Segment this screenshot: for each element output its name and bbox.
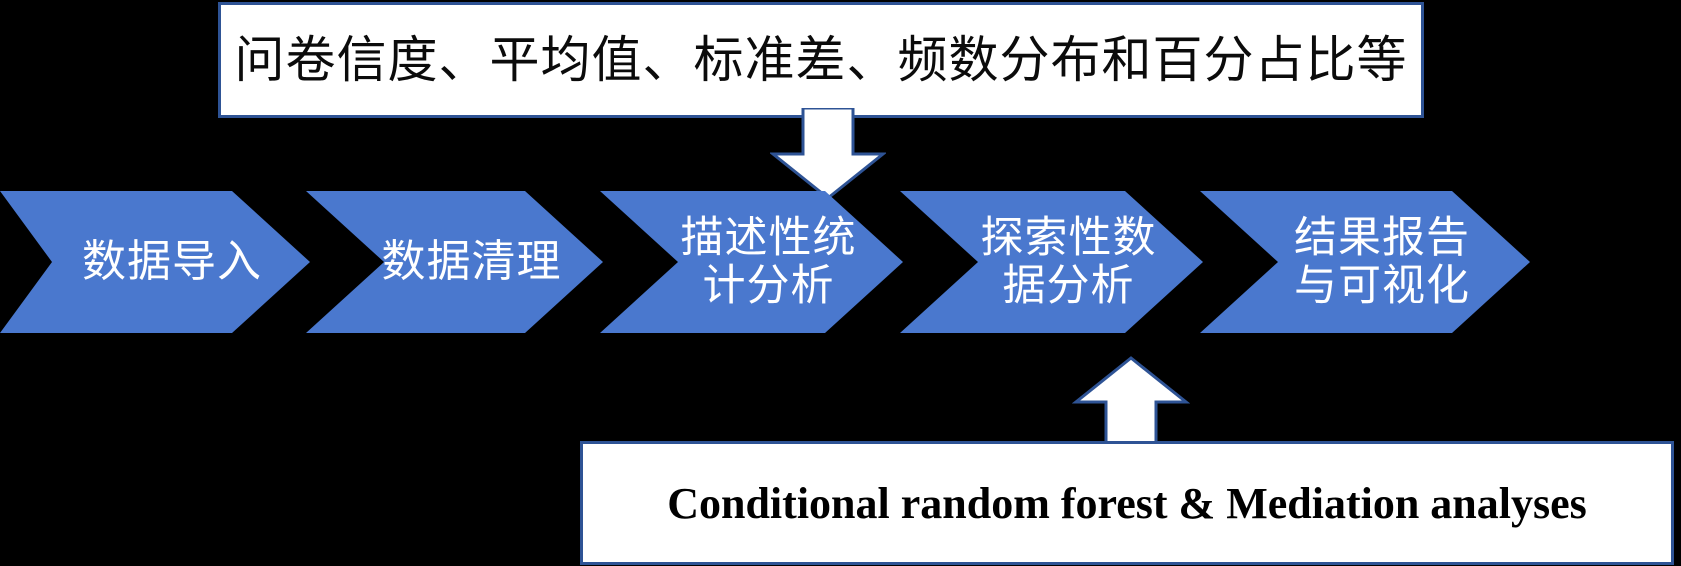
up-arrow-icon [1072,356,1190,448]
chevron-step-5[interactable]: 结果报告 与可视化 [1200,191,1530,333]
process-chevron-band: 数据导入 数据清理 描述性统 计分析 探索性数 据分析 结果报告 与可视化 [0,191,1681,333]
chevron-step-3[interactable]: 描述性统 计分析 [600,191,903,333]
chevron-step-2[interactable]: 数据清理 [306,191,603,333]
chevron-step-5-label: 结果报告 与可视化 [1250,214,1480,310]
chevron-step-1-label: 数据导入 [38,238,272,286]
down-arrow-icon [770,108,886,200]
chevron-step-2-label: 数据清理 [338,238,572,286]
bottom-callout-box: Conditional random forest & Mediation an… [580,441,1674,565]
chevron-step-3-label: 描述性统 计分析 [637,214,867,310]
chevron-step-4-label: 探索性数 据分析 [937,214,1167,310]
bottom-callout-text: Conditional random forest & Mediation an… [667,478,1587,529]
diagram-canvas: 问卷信度、平均值、标准差、频数分布和百分占比等 数据导入 数据清理 描述性统 计… [0,0,1681,566]
chevron-step-4[interactable]: 探索性数 据分析 [900,191,1203,333]
top-callout-box: 问卷信度、平均值、标准差、频数分布和百分占比等 [218,2,1424,118]
chevron-step-1[interactable]: 数据导入 [0,191,310,333]
top-callout-text: 问卷信度、平均值、标准差、频数分布和百分占比等 [235,34,1408,87]
